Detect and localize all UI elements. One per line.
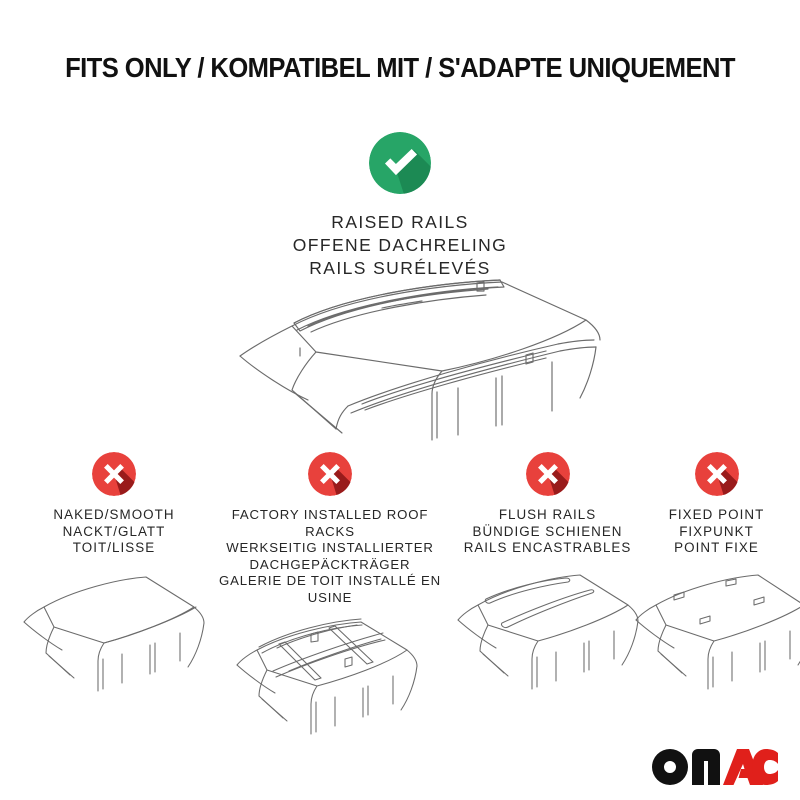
label-line-3: TOIT/LISSE — [53, 540, 174, 557]
incompatible-item-factory-installed-roof-racks: FACTORY INSTALLED ROOF RACKS WERKSEITIG … — [205, 452, 455, 764]
check-circle-icon — [369, 132, 431, 194]
car-roof-fixed-point-illustration — [622, 565, 800, 715]
car-roof-naked-illustration — [8, 565, 220, 715]
incompatible-labels: FACTORY INSTALLED ROOF RACKS WERKSEITIG … — [205, 507, 455, 606]
incompatible-item-fixed-point: FIXED POINT FIXPUNKT POINT FIXE — [633, 452, 800, 715]
omac-logo — [652, 748, 778, 786]
car-roof-factory-rack-illustration — [215, 614, 445, 764]
compatible-label-en: RAISED RAILS — [293, 211, 507, 234]
product-compatibility-infographic: FITS ONLY / KOMPATIBEL MIT / S'ADAPTE UN… — [0, 0, 800, 800]
label-line-2: FIXPUNKT — [669, 524, 765, 541]
car-roof-raised-rails-illustration — [196, 278, 606, 458]
label-line-3: POINT FIXE — [669, 540, 765, 557]
incompatible-labels: NAKED/SMOOTH NACKT/GLATT TOIT/LISSE — [53, 507, 174, 557]
page-title: FITS ONLY / KOMPATIBEL MIT / S'ADAPTE UN… — [28, 52, 772, 84]
x-circle-icon — [695, 452, 739, 496]
label-line-1: NAKED/SMOOTH — [53, 507, 174, 524]
incompatible-item-naked-smooth: NAKED/SMOOTH NACKT/GLATT TOIT/LISSE — [8, 452, 220, 715]
x-circle-icon — [526, 452, 570, 496]
label-line-3: DACHGEPÄCKTRÄGER — [205, 557, 455, 574]
incompatible-labels: FLUSH RAILS BÜNDIGE SCHIENEN RAILS ENCAS… — [464, 507, 632, 557]
compatible-labels: RAISED RAILS OFFENE DACHRELING RAILS SUR… — [293, 211, 507, 280]
x-circle-icon — [92, 452, 136, 496]
label-line-1: FLUSH RAILS — [464, 507, 632, 524]
incompatible-labels: FIXED POINT FIXPUNKT POINT FIXE — [669, 507, 765, 557]
label-line-4: GALERIE DE TOIT INSTALLÉ EN USINE — [205, 573, 455, 606]
compatible-label-de: OFFENE DACHRELING — [293, 234, 507, 257]
compatible-label-fr: RAILS SURÉLEVÉS — [293, 257, 507, 280]
compatible-section: RAISED RAILS OFFENE DACHRELING RAILS SUR… — [0, 132, 800, 280]
label-line-3: RAILS ENCASTRABLES — [464, 540, 632, 557]
label-line-2: WERKSEITIG INSTALLIERTER — [205, 540, 455, 557]
label-line-1: FACTORY INSTALLED ROOF RACKS — [205, 507, 455, 540]
label-line-2: NACKT/GLATT — [53, 524, 174, 541]
incompatible-section: NAKED/SMOOTH NACKT/GLATT TOIT/LISSE — [0, 452, 800, 752]
x-circle-icon — [308, 452, 352, 496]
label-line-1: FIXED POINT — [669, 507, 765, 524]
label-line-2: BÜNDIGE SCHIENEN — [464, 524, 632, 541]
